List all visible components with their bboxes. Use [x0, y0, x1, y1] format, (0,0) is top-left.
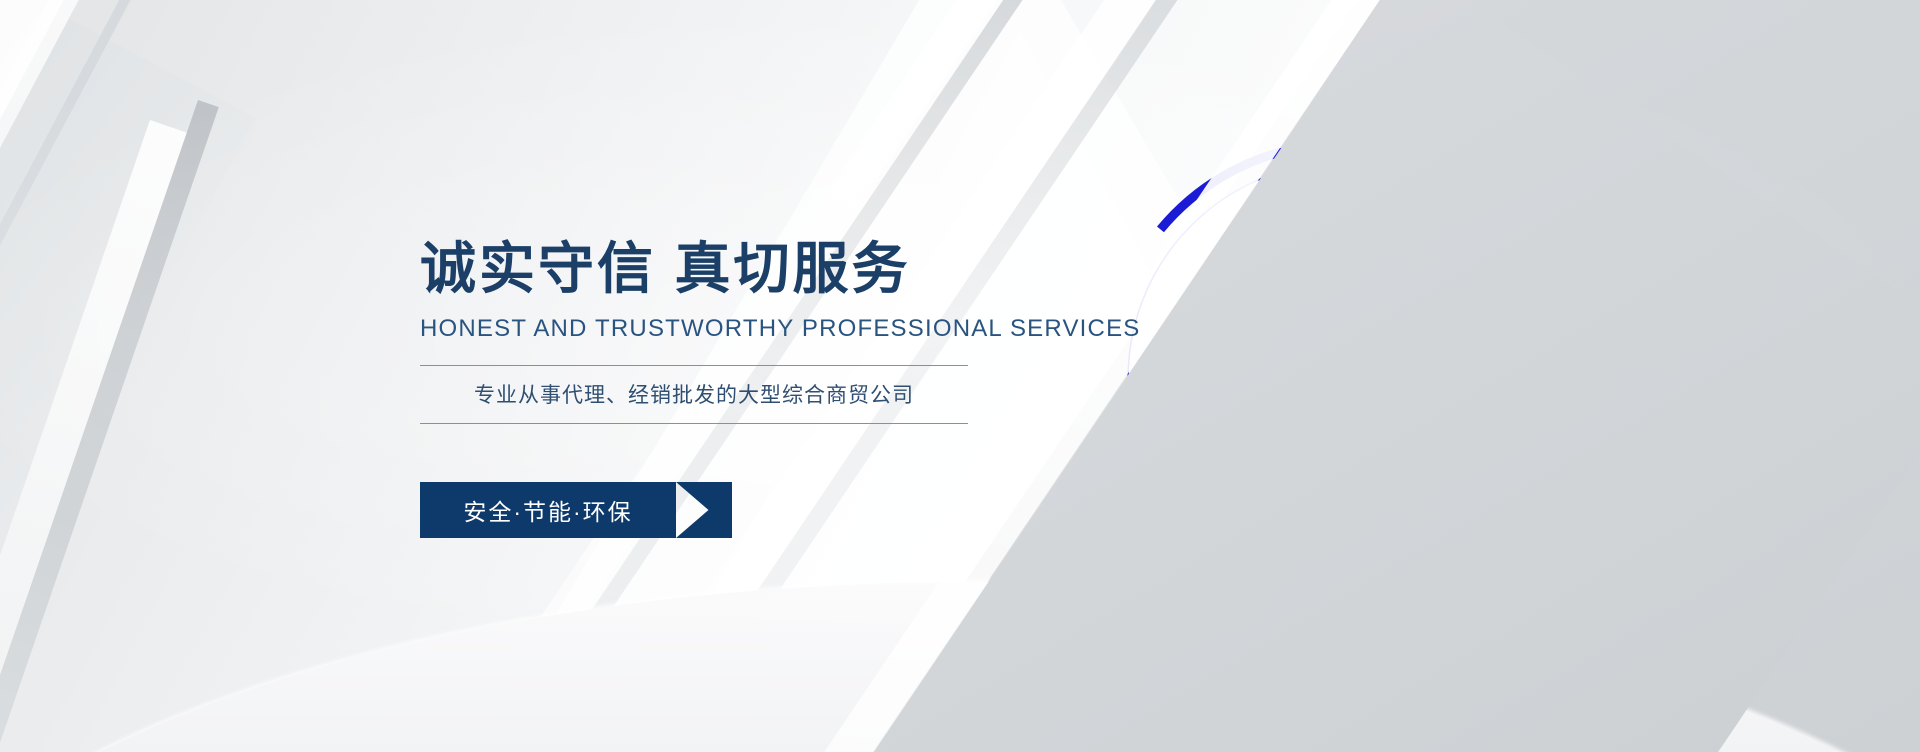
feature-ribbon-tail — [676, 482, 732, 538]
banner-headline: 诚实守信 真切服务 — [420, 240, 980, 299]
background-wedge-left-light — [0, 0, 161, 752]
feature-ribbon: 安全·节能·环保 — [420, 482, 676, 538]
background-strip-gray — [0, 0, 309, 752]
background-wedge-left — [0, 0, 256, 752]
banner-description: 专业从事代理、经销批发的大型综合商贸公司 — [420, 379, 968, 409]
background-strip-bright — [0, 0, 253, 752]
background-pillar-shadow — [0, 100, 219, 752]
promo-banner: 诚实守信 真切服务 HONEST AND TRUSTWORTHY PROFESS… — [0, 0, 1920, 752]
banner-copy: 诚实守信 真切服务 HONEST AND TRUSTWORTHY PROFESS… — [420, 240, 980, 424]
feature-ribbon-label: 安全·节能·环保 — [463, 493, 632, 527]
banner-description-frame: 专业从事代理、经销批发的大型综合商贸公司 — [420, 365, 968, 424]
banner-subtitle: HONEST AND TRUSTWORTHY PROFESSIONAL SERV… — [420, 315, 980, 343]
background-pillar-light — [0, 120, 188, 752]
